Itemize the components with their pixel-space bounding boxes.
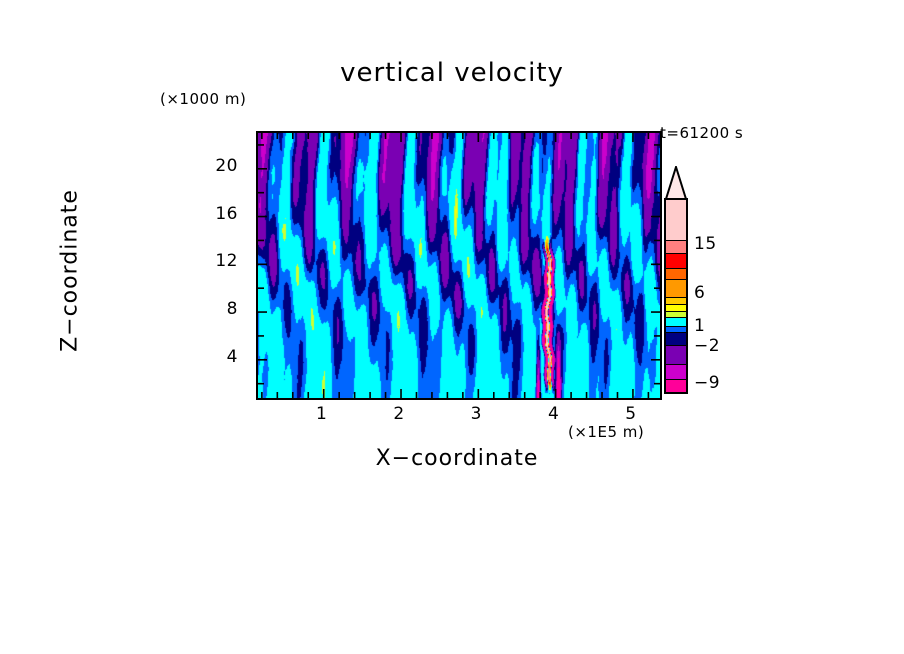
- colorbar-tick-label: 1: [694, 316, 705, 336]
- colorbar-band: [666, 280, 686, 298]
- y-tick-label: 8: [198, 299, 238, 319]
- x-tick-label: 5: [616, 404, 646, 424]
- y-tick-label: 16: [198, 204, 238, 224]
- colorbar-tick-label: 6: [694, 283, 705, 303]
- figure-root: vertical velocity (×1000 m) t=61200 s (×…: [0, 0, 904, 654]
- colorbar-band: [666, 241, 686, 255]
- y-tick-label: 4: [198, 347, 238, 367]
- y-tick-label: 20: [198, 156, 238, 176]
- x-tick-label: 1: [307, 404, 337, 424]
- colorbar-band: [666, 365, 686, 380]
- x-tick-label: 2: [384, 404, 414, 424]
- y-tick-label: 12: [198, 251, 238, 271]
- colorbar-band: [666, 333, 686, 345]
- chart-title: vertical velocity: [0, 58, 904, 88]
- colorbar-band: [666, 312, 686, 319]
- colorbar-band: [666, 298, 686, 305]
- x-tick-label: 4: [539, 404, 569, 424]
- colorbar-tick-label: −9: [694, 373, 720, 393]
- colorbar-tick-label: 15: [694, 234, 717, 254]
- velocity-field-contour: [258, 133, 660, 398]
- y-axis-unit-label: (×1000 m): [160, 90, 246, 108]
- x-tick-label: 3: [461, 404, 491, 424]
- time-annotation: t=61200 s: [660, 124, 743, 142]
- x-axis-unit-label: (×1E5 m): [568, 423, 644, 441]
- colorbar-bands: [664, 198, 688, 394]
- colorbar-band: [666, 254, 686, 269]
- colorbar-tick-label: −2: [694, 336, 720, 356]
- y-axis-label: Z−coordinate: [58, 141, 83, 401]
- colorbar-band: [666, 269, 686, 280]
- colorbar-band: [666, 305, 686, 312]
- colorbar-band: [666, 380, 686, 392]
- colorbar-band: [666, 200, 686, 241]
- plot-area: [256, 131, 662, 400]
- colorbar: [664, 166, 688, 396]
- colorbar-band: [666, 327, 686, 334]
- colorbar-arrow-head: [664, 166, 688, 200]
- x-axis-label: X−coordinate: [256, 446, 658, 471]
- colorbar-band: [666, 318, 686, 326]
- colorbar-band: [666, 346, 686, 365]
